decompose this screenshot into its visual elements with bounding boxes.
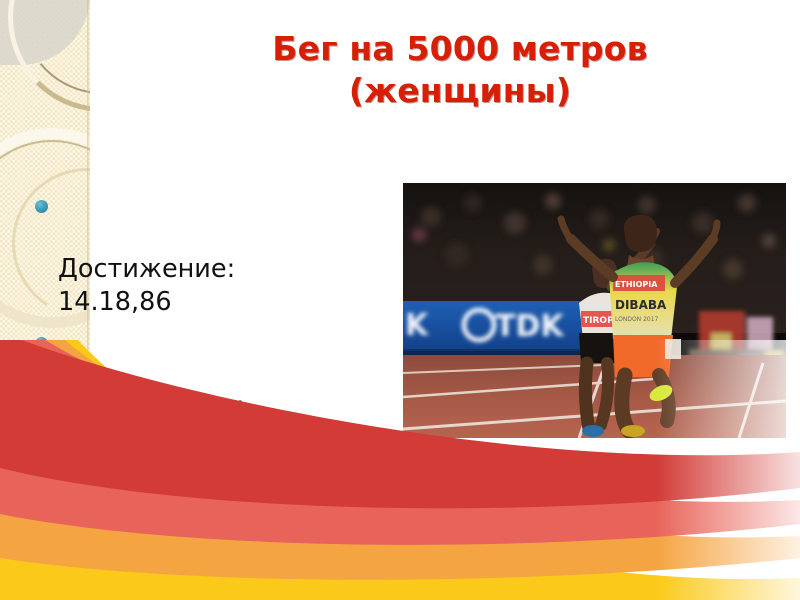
slide-title-line-2: (женщины): [150, 70, 770, 112]
svg-text:DIBABA: DIBABA: [615, 298, 667, 312]
svg-text:K: K: [405, 308, 430, 343]
athlete-photo: K TDK: [403, 183, 786, 438]
bullet-dot-icon: [35, 337, 48, 350]
list-item-text: Дата установления: 06.06.2008: [58, 527, 328, 590]
bullet-dot-icon: [35, 200, 48, 213]
list-item: Спортсменка: Тирунеш Дибаба: [30, 325, 420, 456]
list-item: Дата установления: 06.06.2008: [30, 461, 420, 592]
list-item-text: Спортсменка: Тирунеш Дибаба: [58, 391, 284, 454]
list-item-text: Достижение: 14.18,86: [58, 254, 235, 317]
slide-title: Бег на 5000 метров (женщины): [150, 28, 770, 112]
bullet-dot-icon: [35, 473, 48, 486]
svg-text:LONDON 2017: LONDON 2017: [615, 316, 659, 323]
slide-canvas: Бег на 5000 метров (женщины) Достижение:…: [0, 0, 800, 600]
slide-title-line-1: Бег на 5000 метров: [150, 28, 770, 70]
svg-text:ETHIOPIA: ETHIOPIA: [615, 280, 658, 289]
list-item: Достижение: 14.18,86: [30, 188, 420, 319]
bullet-list: Достижение: 14.18,86 Спортсменка: Тируне…: [30, 188, 420, 598]
svg-text:TDK: TDK: [495, 309, 565, 344]
svg-text:TIROP: TIROP: [583, 316, 614, 326]
